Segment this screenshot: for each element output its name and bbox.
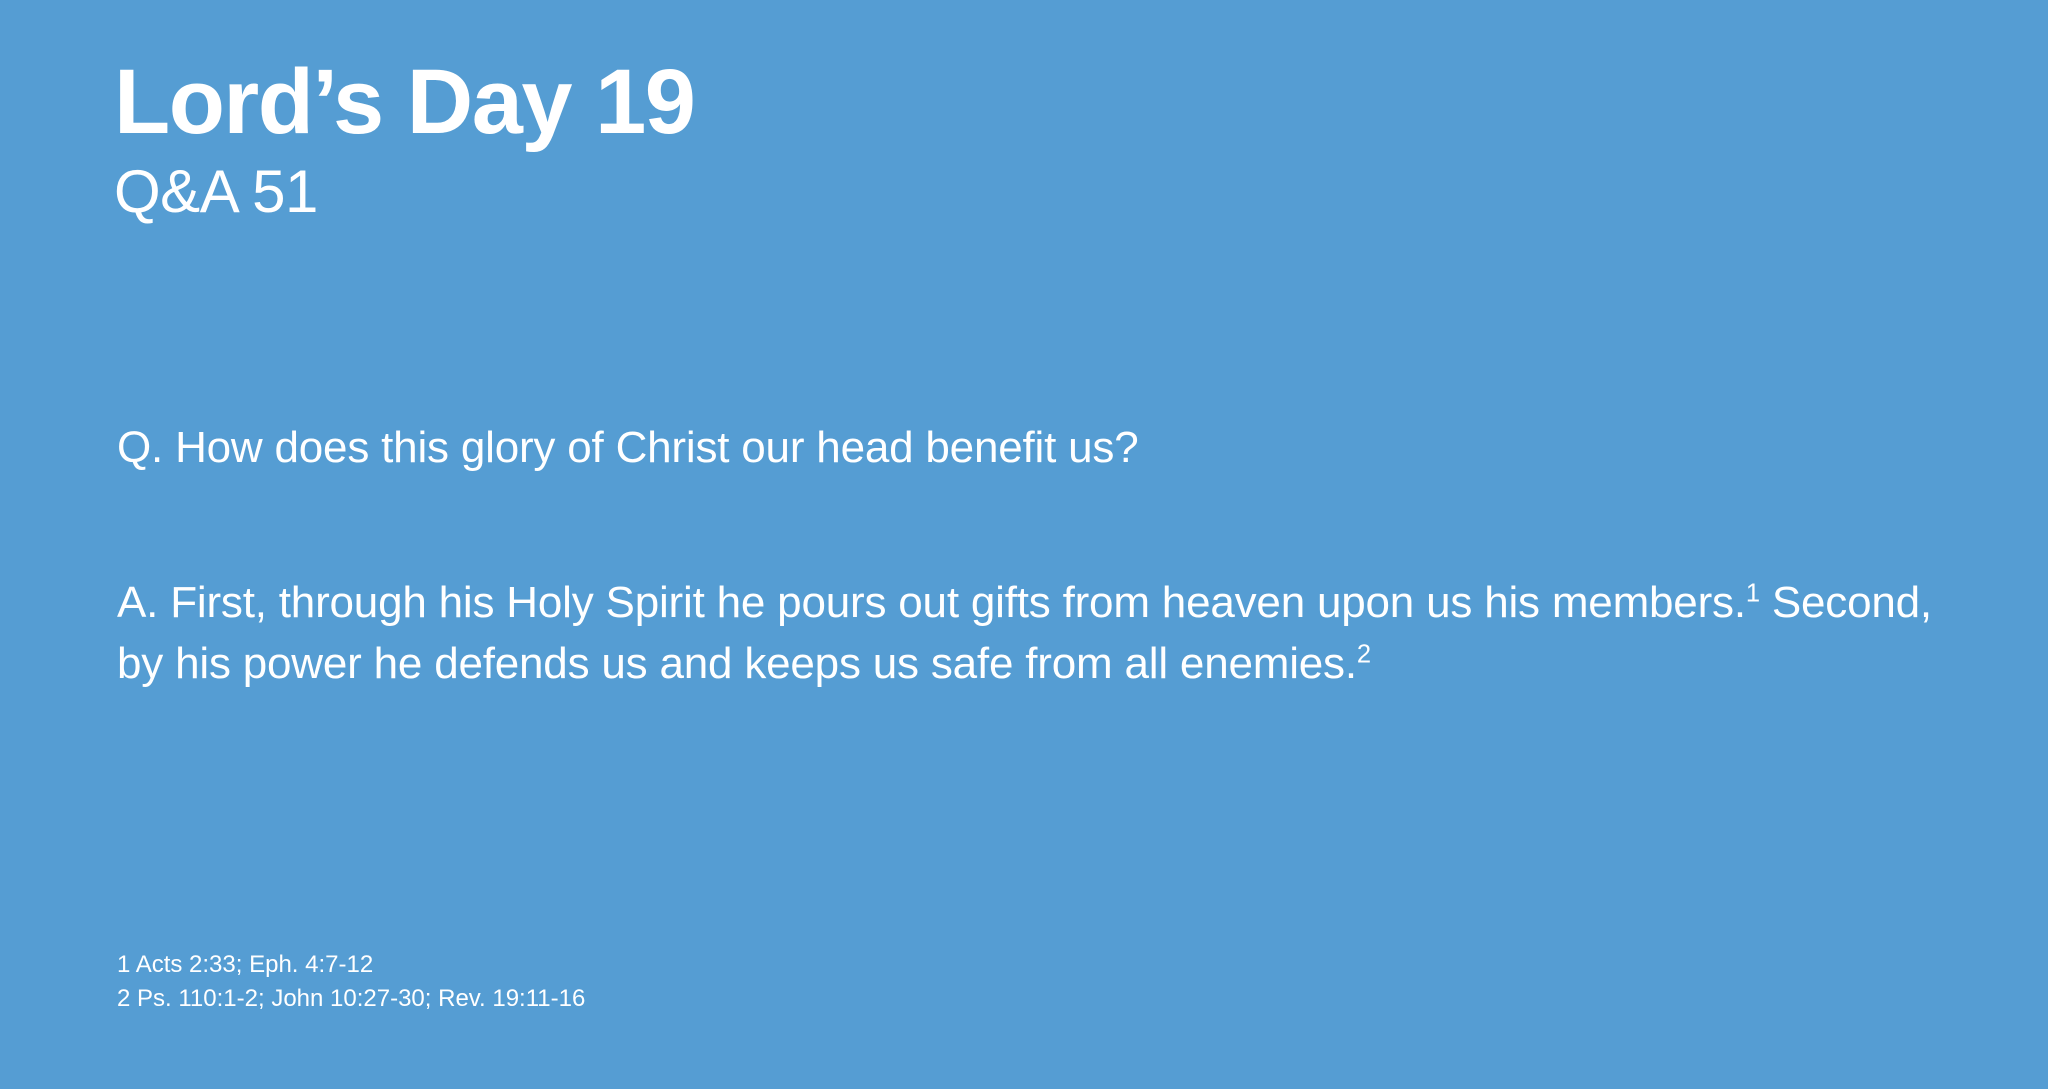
question-text: Q. How does this glory of Christ our hea…: [117, 418, 1937, 477]
page-subtitle: Q&A 51: [114, 162, 694, 222]
page-title: Lord’s Day 19: [114, 56, 694, 148]
answer-segment-first: A. First, through his Holy Spirit he pou…: [117, 578, 1746, 627]
slide-root: Lord’s Day 19 Q&A 51 Q. How does this gl…: [0, 0, 2048, 1089]
footnote-marker-1: 1: [1746, 579, 1760, 607]
footnote-item: 1 Acts 2:33; Eph. 4:7-12: [117, 948, 585, 982]
title-block: Lord’s Day 19 Q&A 51: [114, 56, 694, 222]
answer-text: A. First, through his Holy Spirit he pou…: [117, 573, 1947, 694]
footnote-marker-2: 2: [1357, 640, 1371, 668]
footnote-item: 2 Ps. 110:1-2; John 10:27-30; Rev. 19:11…: [117, 982, 585, 1016]
footnotes-block: 1 Acts 2:33; Eph. 4:7-12 2 Ps. 110:1-2; …: [117, 948, 585, 1016]
question-answer-block: Q. How does this glory of Christ our hea…: [117, 418, 1937, 477]
